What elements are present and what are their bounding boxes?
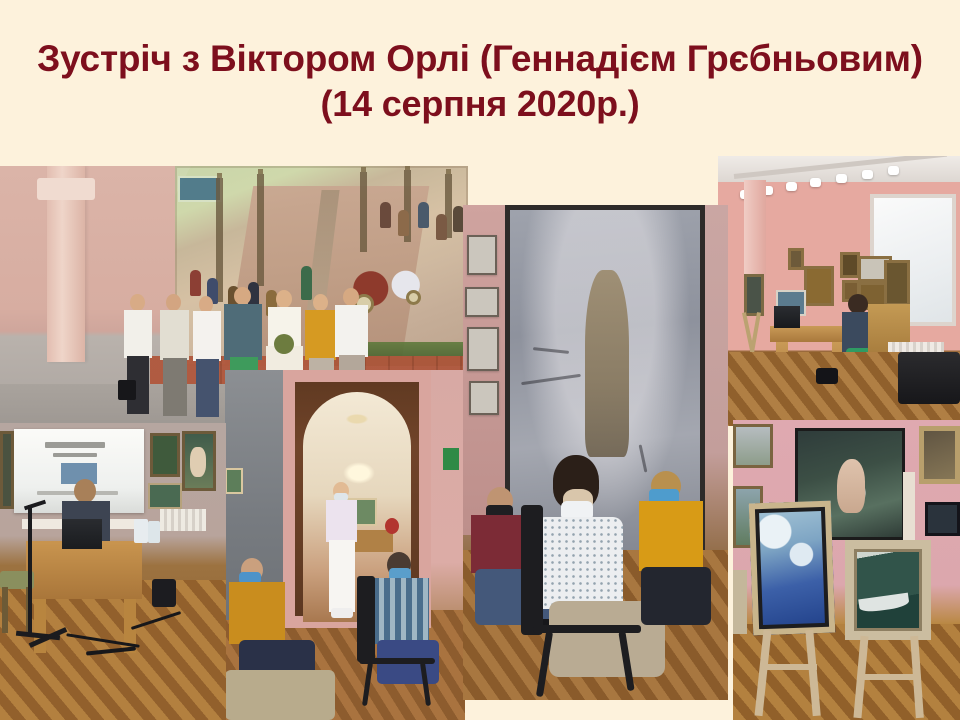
painting-boats-artwork — [845, 540, 931, 640]
photo-masked-audience-before-large-painting — [463, 205, 728, 700]
photo-presenter-with-projector-screen — [0, 423, 226, 720]
presentation-slide: Зустріч з Віктором Орлі (Геннадієм Грєбн… — [0, 0, 960, 720]
slide-subtitle-date: (14 серпня 2020р.) — [0, 81, 960, 126]
person-in-photo — [120, 294, 156, 418]
slide-title-block: Зустріч з Віктором Орлі (Геннадієм Грєбн… — [0, 36, 960, 126]
photo-collage — [0, 150, 960, 720]
photo-seated-women-near-doorway — [225, 370, 465, 720]
painting-blossom-artwork — [749, 501, 836, 636]
photo-gallery-room-man-at-desk — [718, 156, 960, 426]
page-title: Зустріч з Віктором Орлі (Геннадієм Грєбн… — [0, 36, 960, 81]
person-in-photo — [323, 482, 359, 620]
photo-paintings-on-easels — [733, 420, 960, 720]
